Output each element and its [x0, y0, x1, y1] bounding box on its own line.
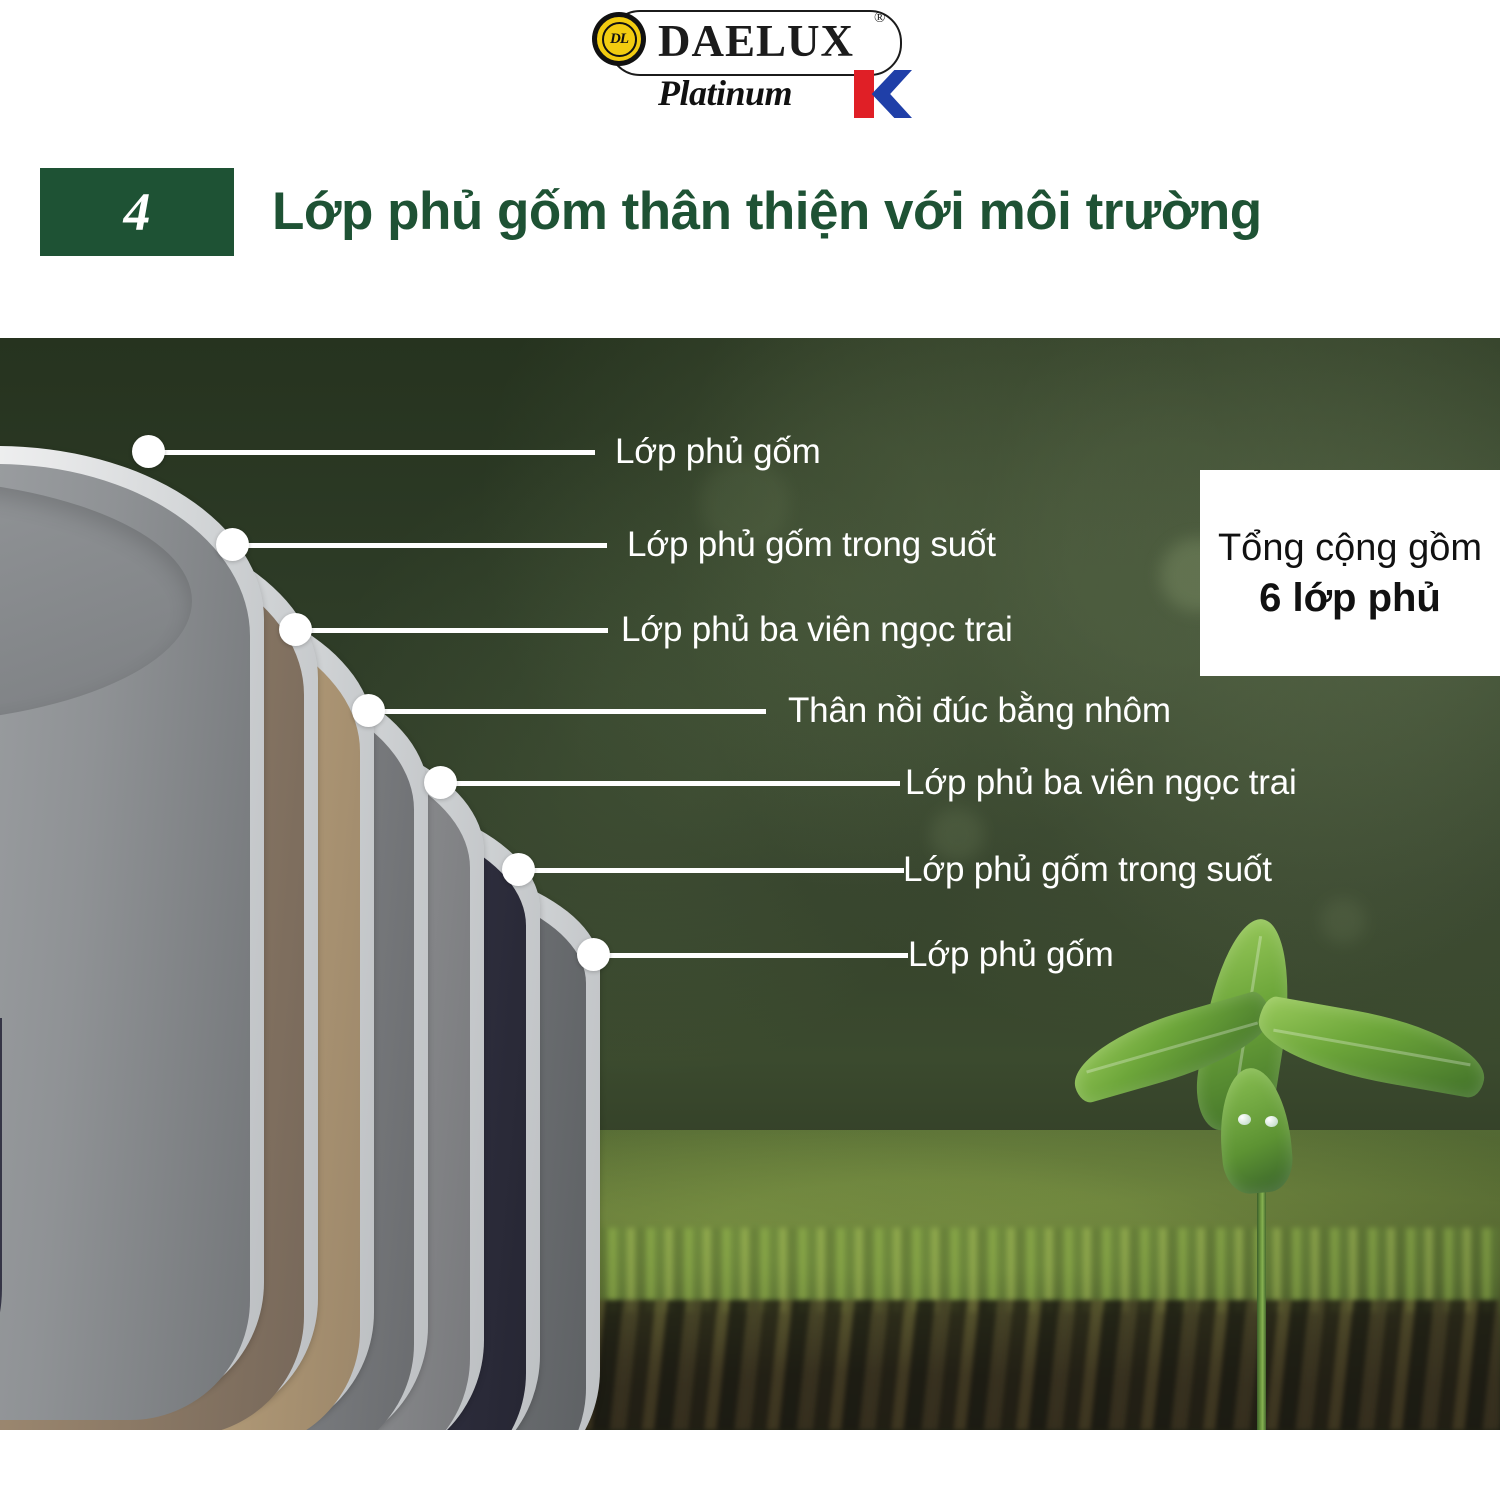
scene-photo: Lớp phủ gốmLớp phủ gốm trong suốtLớp phủ… — [0, 338, 1500, 1430]
dew-drop — [1265, 1116, 1278, 1127]
callout-label: Lớp phủ gốm — [615, 432, 821, 472]
callout-dot — [502, 853, 535, 886]
header-area: DL DAELUX ® Platinum 4 Lớp phủ gốm thân … — [0, 0, 1500, 338]
callout-leader-line — [158, 450, 595, 455]
brand-logo: DL DAELUX ® Platinum — [580, 4, 920, 124]
registered-mark-icon: ® — [874, 10, 885, 27]
logo-monogram: DL — [602, 22, 637, 57]
callout-leader-line — [528, 868, 904, 873]
callout-label: Lớp phủ gốm — [908, 935, 1114, 975]
logo-seal-icon: DL — [592, 12, 646, 66]
callout-dot — [424, 766, 457, 799]
callout-label: Lớp phủ gốm trong suốt — [903, 850, 1272, 890]
brand-subtitle: Platinum — [658, 70, 920, 122]
callout-leader-line — [450, 781, 900, 786]
footer-whitespace — [0, 1430, 1500, 1500]
section-header: 4 Lớp phủ gốm thân thiện với môi trường — [0, 150, 1500, 270]
callout-leader-line — [378, 709, 766, 714]
leaf-right — [1252, 994, 1492, 1099]
summary-value: 6 lớp phủ — [1259, 573, 1441, 623]
callout-dot — [279, 613, 312, 646]
pot-cross-section-diagram — [0, 338, 680, 1430]
summary-box: Tổng cộng gồm 6 lớp phủ — [1200, 470, 1500, 676]
callout-label: Thân nồi đúc bằng nhôm — [788, 691, 1171, 731]
brand-subtitle-word: Platinum — [658, 72, 792, 114]
callout-dot — [577, 938, 610, 971]
callout-label: Lớp phủ ba viên ngọc trai — [621, 610, 1013, 650]
callout-dot — [216, 528, 249, 561]
callout-leader-line — [305, 628, 608, 633]
callout-dot — [132, 435, 165, 468]
callout-label: Lớp phủ gốm trong suốt — [627, 525, 996, 565]
brand-k-mark — [854, 68, 912, 122]
brand-name: DAELUX — [658, 14, 854, 68]
callout-leader-line — [242, 543, 607, 548]
callout-label: Lớp phủ ba viên ngọc trai — [905, 763, 1297, 803]
k-red-bar — [854, 70, 874, 118]
section-number-badge: 4 — [40, 168, 234, 256]
logo-seal-ring: DL — [595, 15, 643, 63]
sprout-plant — [1060, 918, 1480, 1430]
k-blue-chevron — [870, 70, 912, 118]
section-number: 4 — [124, 185, 151, 239]
leaf-vein — [1273, 1029, 1470, 1067]
page-title: Lớp phủ gốm thân thiện với môi trường — [272, 172, 1262, 252]
summary-caption: Tổng cộng gồm — [1218, 523, 1482, 573]
dew-drop — [1238, 1114, 1251, 1125]
callout-dot — [352, 694, 385, 727]
callout-leader-line — [603, 953, 908, 958]
